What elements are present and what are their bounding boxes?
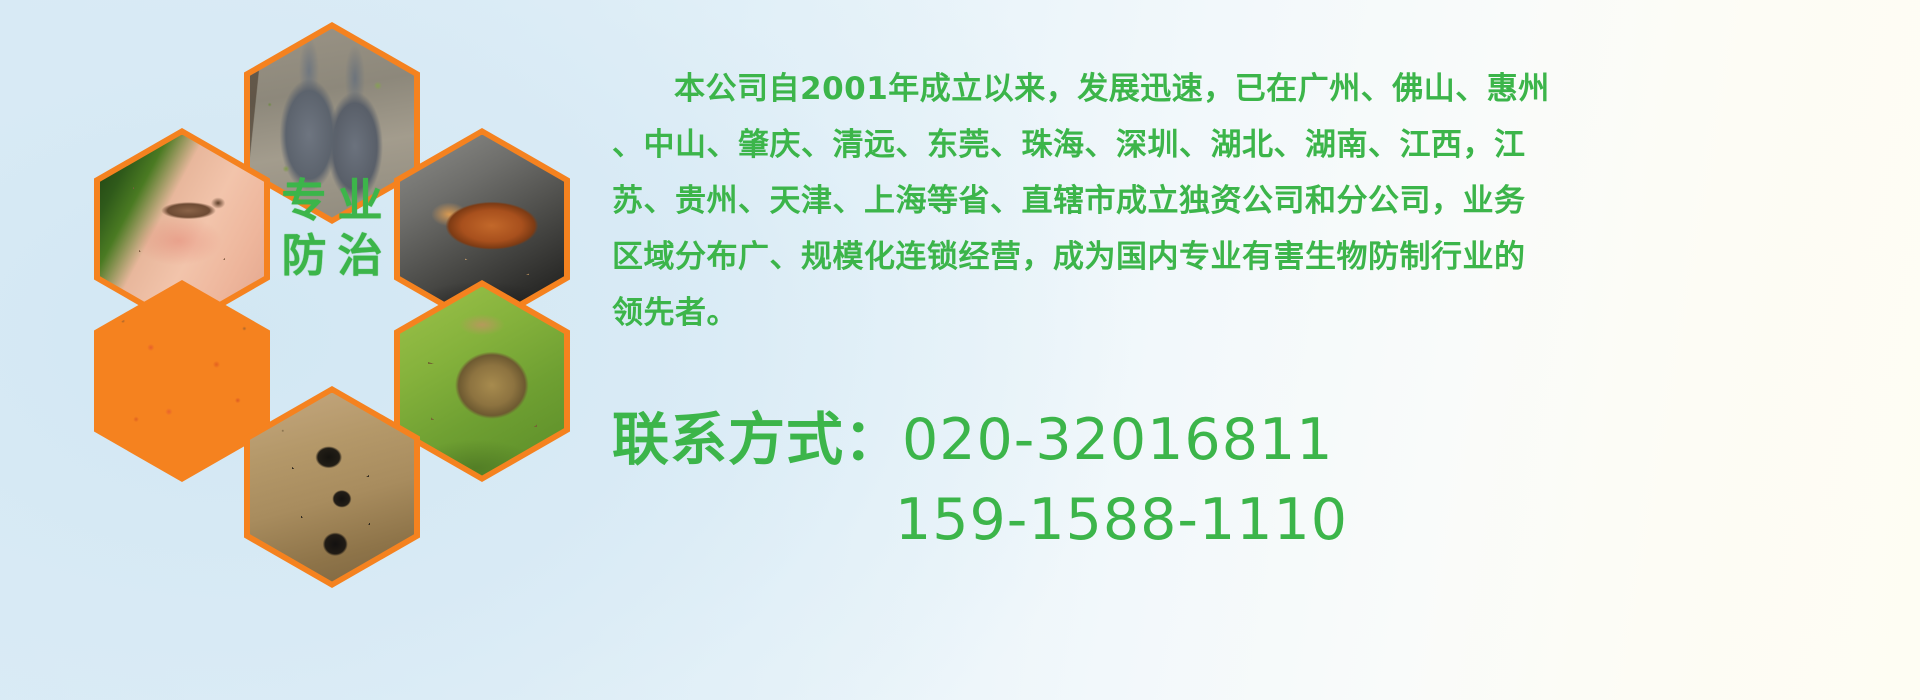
hex-tile-flies (94, 280, 270, 482)
contact-mobile-number[interactable]: 159-1588-1110 (895, 487, 1348, 553)
stink-bug-photo (400, 287, 564, 476)
slogan-line-1: 专业 (270, 174, 393, 229)
intro-line-2: 、中山、肇庆、清远、东莞、珠海、深圳、湖北、湖南、江西，江 (612, 117, 1882, 173)
contact-landline-line: 联系方式：020-32016811 (612, 400, 1882, 480)
hex-inner (250, 393, 414, 582)
intro-line-5: 领先者。 (612, 285, 1882, 341)
intro-line-3: 苏、贵州、天津、上海等省、直辖市成立独资公司和分公司，业务 (612, 173, 1882, 229)
contact-block: 联系方式：020-32016811 159-1588-1110 (612, 400, 1882, 560)
flies-photo (100, 287, 264, 476)
company-intro-block: 本公司自2001年成立以来，发展迅速，已在广州、佛山、惠州 、中山、肇庆、清远、… (612, 30, 1882, 372)
hex-inner (100, 287, 264, 476)
hex-inner (400, 287, 564, 476)
hex-inner: 专业 防治 (250, 135, 414, 324)
promotional-banner: 专业 防治 本公司自2001年成立以来，发展迅速，已在广州、佛山、惠州 (0, 0, 1920, 700)
contact-label: 联系方式： (612, 407, 902, 473)
intro-line-1: 本公司自2001年成立以来，发展迅速，已在广州、佛山、惠州 (612, 61, 1882, 117)
ant-photo (250, 393, 414, 582)
contact-mobile-line: 159-1588-1110 (612, 480, 1882, 560)
slogan-line-2: 防治 (270, 229, 393, 284)
hex-tile-ant (244, 386, 420, 588)
hex-tile-stink-bug (394, 280, 570, 482)
contact-landline-number[interactable]: 020-32016811 (902, 407, 1333, 473)
honeycomb-image-cluster: 专业 防治 (78, 8, 598, 568)
intro-line-4: 区域分布广、规模化连锁经营，成为国内专业有害生物防制行业的 (612, 229, 1882, 285)
company-intro-paragraph: 本公司自2001年成立以来，发展迅速，已在广州、佛山、惠州 、中山、肇庆、清远、… (612, 61, 1882, 341)
